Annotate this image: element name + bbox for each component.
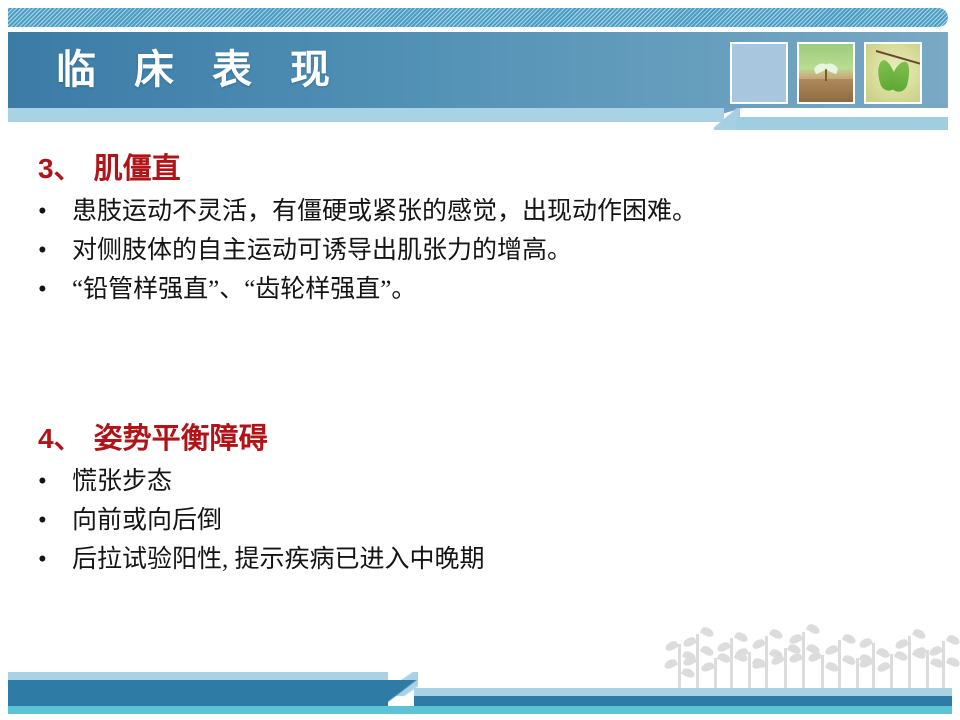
list-item: 慌张步态 [0, 462, 960, 501]
plant-stem [784, 648, 787, 688]
plant-leaf-icon [876, 660, 891, 673]
plant-leaf-icon [682, 635, 697, 648]
plant-leaf-icon [700, 644, 715, 658]
footer-dark-diagonal-step [384, 680, 418, 706]
plant-leaf-icon [894, 637, 909, 650]
plant-stem [890, 654, 893, 688]
footer-dark-bar-right [414, 696, 952, 706]
header-underline-light-right [736, 117, 948, 130]
plant-leaf-icon [716, 640, 731, 653]
plant-leaf-icon [681, 667, 696, 680]
section-heading-3: 3、肌僵直 [38, 150, 960, 188]
bullet-list-3: 患肢运动不灵活，有僵硬或紧张的感觉，出现动作困难。 对侧肢体的自主运动可诱导出肌… [0, 192, 960, 309]
header-thumbnail-strip [730, 42, 942, 104]
bullet-list-4: 慌张步态 向前或向后倒 后拉试验阳性, 提示疾病已进入中晚期 [0, 462, 960, 579]
footer-light-bar-left [8, 672, 388, 680]
plant-leaf-icon [807, 650, 822, 663]
plant-stem [821, 655, 824, 688]
plant-stem [678, 644, 681, 688]
bullet-dot-icon [38, 270, 46, 309]
plant-leaf-icon [842, 653, 857, 666]
bullet-text: 对侧肢体的自主运动可诱导出肌张力的增高。 [72, 237, 572, 264]
plant-leaf-icon [700, 625, 715, 638]
plant-leaf-icon [858, 636, 873, 649]
bullet-text: 向前或向后倒 [72, 507, 222, 534]
list-item: 对侧肢体的自主运动可诱导出肌张力的增高。 [0, 231, 960, 270]
plant-leaf-icon [912, 627, 927, 641]
bullet-dot-icon [38, 540, 46, 579]
plant-leaf-icon [946, 656, 960, 669]
plant-stem [872, 643, 875, 688]
plant-leaf-icon [700, 661, 715, 674]
blank-blue-thumbnail [730, 42, 788, 104]
list-item: 向前或向后倒 [0, 501, 960, 540]
plant-stem [926, 650, 929, 688]
bullet-dot-icon [38, 501, 46, 540]
list-item: “铅管样强直”、“齿轮样强直”。 [0, 270, 960, 309]
page-title: 临 床 表 现 [56, 44, 344, 96]
section-muscular-rigidity: 3、肌僵直 患肢运动不灵活，有僵硬或紧张的感觉，出现动作困难。 对侧肢体的自主运… [0, 150, 960, 309]
plant-silhouette-decoration [672, 628, 960, 688]
section-title-3: 肌僵直 [94, 153, 181, 185]
bullet-text: 患肢运动不灵活，有僵硬或紧张的感觉，出现动作困难。 [72, 198, 697, 225]
plant-stem [838, 640, 841, 688]
section-postural-instability: 4、姿势平衡障碍 慌张步态 向前或向后倒 后拉试验阳性, 提示疾病已进入中晚期 [0, 420, 960, 579]
bullet-dot-icon [38, 462, 46, 501]
plant-leaf-icon [928, 644, 943, 657]
section-number-4: 4、 [38, 423, 82, 454]
plant-leaf-icon [734, 630, 749, 644]
footer-dark-bar-left [8, 680, 388, 706]
list-item: 患肢运动不灵活，有僵硬或紧张的感觉，出现动作困难。 [0, 192, 960, 231]
section-heading-4: 4、姿势平衡障碍 [38, 420, 960, 458]
section-number-3: 3、 [38, 153, 82, 184]
plant-leaf-icon [788, 652, 803, 665]
soil-layer [799, 79, 853, 102]
footer-light-bar-right [414, 688, 952, 696]
bullet-dot-icon [38, 231, 46, 270]
plant-leaf-icon [769, 627, 784, 640]
section-title-4: 姿势平衡障碍 [94, 423, 268, 455]
slide-canvas: 临 床 表 现 3、肌僵直 患肢运动不灵活，有僵硬或紧张的感觉，出现动作困难。 … [0, 0, 960, 720]
bullet-text: 后拉试验阳性, 提示疾病已进入中晚期 [72, 546, 485, 573]
plant-leaf-icon [806, 622, 821, 636]
bullet-text: 慌张步态 [72, 468, 172, 495]
plant-stem [748, 652, 751, 688]
plant-leaf-icon [788, 632, 803, 645]
green-leaf-right-icon [889, 59, 913, 93]
plant-leaf-icon [946, 633, 960, 646]
header-underline-light-left [8, 108, 724, 122]
plant-stem [802, 632, 805, 688]
plant-leaf-icon [664, 639, 679, 653]
header-striped-band [8, 8, 948, 27]
plant-stem [714, 658, 717, 688]
bullet-text: “铅管样强直”、“齿轮样强直”。 [72, 276, 416, 303]
plant-leaf-icon [663, 657, 678, 670]
plant-leaf-icon [751, 637, 766, 650]
plant-leaf-icon [876, 646, 891, 659]
plant-leaf-icon [842, 632, 857, 645]
bullet-dot-icon [38, 192, 46, 231]
list-item: 后拉试验阳性, 提示疾病已进入中晚期 [0, 540, 960, 579]
seedling-photo-thumbnail [797, 42, 855, 104]
plant-leaf-icon [824, 643, 839, 656]
green-leaves-photo-thumbnail [864, 42, 922, 104]
footer-cyan-bar [8, 706, 952, 714]
plant-leaf-icon [894, 649, 909, 662]
plant-stem [942, 641, 945, 688]
